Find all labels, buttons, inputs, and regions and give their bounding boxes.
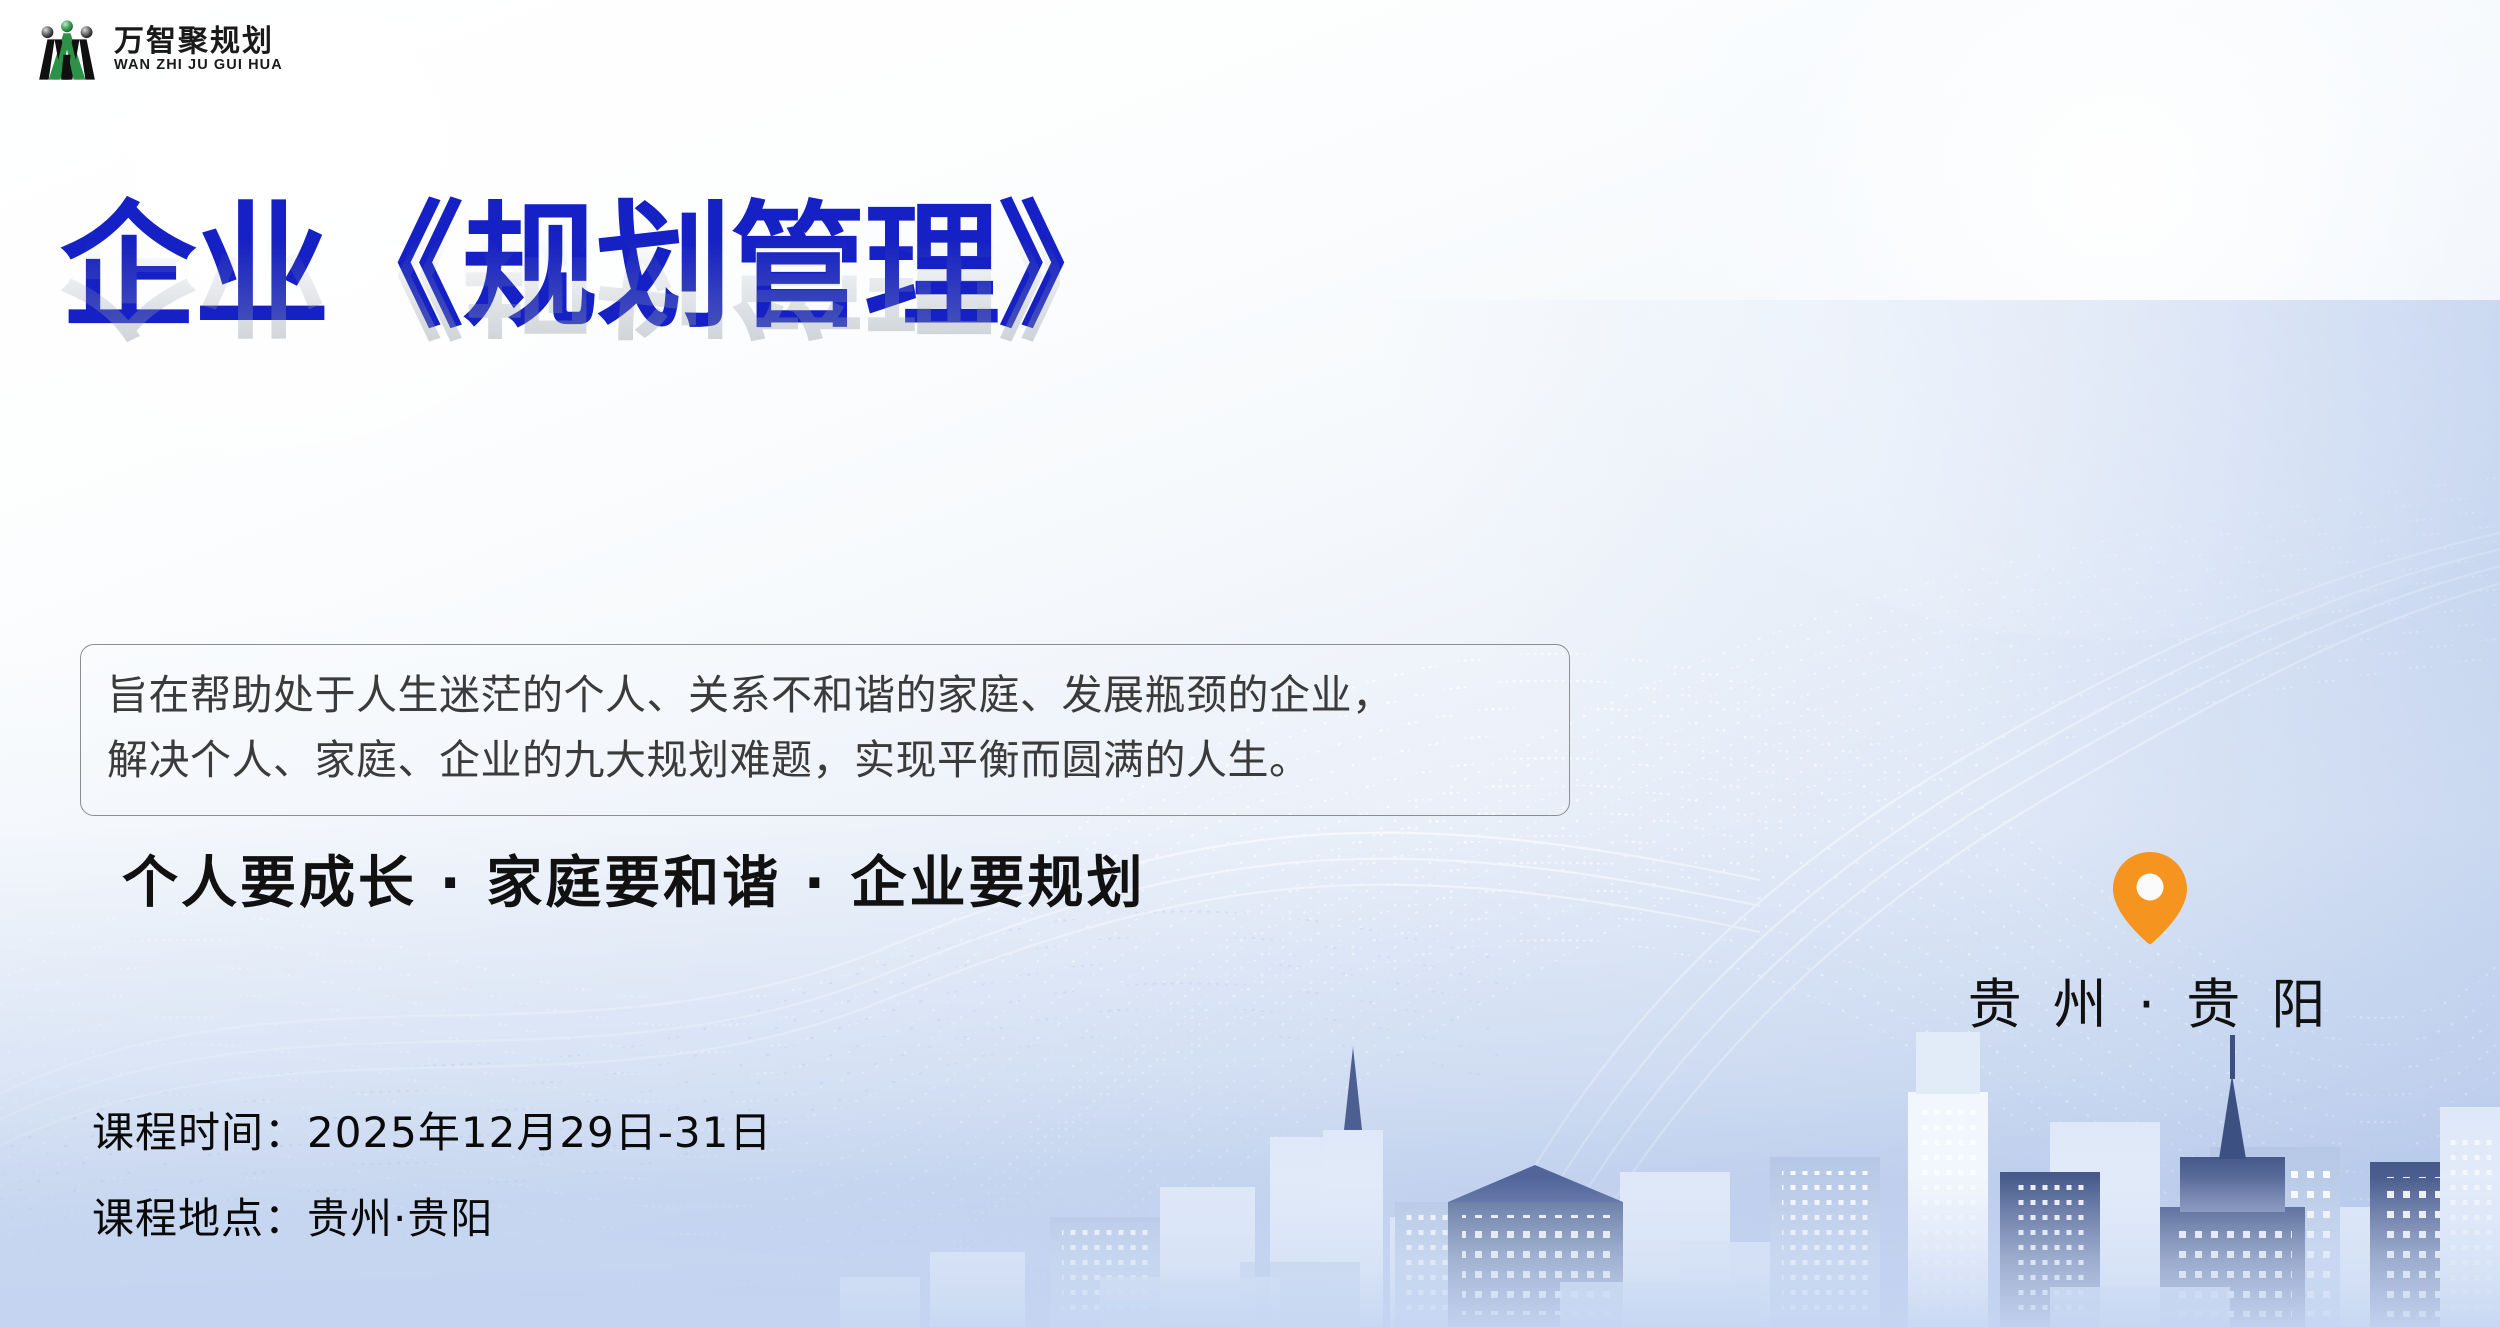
top-right-glow — [1520, 0, 2500, 640]
brand-logo: 万智聚规划 WAN ZHI JU GUI HUA — [34, 18, 283, 82]
hero-title-block: 企业《规划管理》 企业《规划管理》 — [60, 188, 1060, 468]
brand-name-en: WAN ZHI JU GUI HUA — [114, 58, 283, 74]
poster-canvas: 万智聚规划 WAN ZHI JU GUI HUA 企业《规划管理》 企业《规划管… — [0, 0, 2500, 1327]
location-badge: 贵 州 · 贵 阳 — [1935, 850, 2365, 1039]
three-people-logo-icon — [34, 18, 100, 82]
map-pin-icon — [2110, 850, 2190, 946]
course-place: 课程地点：贵州·贵阳 — [92, 1198, 772, 1240]
page-title-reflection: 企业《规划管理》 — [60, 232, 1060, 350]
brand-name-cn: 万智聚规划 — [114, 26, 283, 58]
description-box: 旨在帮助处于人生迷茫的个人、关系不和谐的家庭、发展瓶颈的企业， 解决个人、家庭、… — [80, 644, 1570, 816]
course-info: 课程时间：2025年12月29日-31日 课程地点：贵州·贵阳 — [92, 1112, 772, 1240]
location-city: 贵 州 · 贵 阳 — [1968, 960, 2333, 1039]
course-date: 课程时间：2025年12月29日-31日 — [92, 1112, 772, 1154]
description-line-2: 解决个人、家庭、企业的九大规划难题，实现平衡而圆满的人生。 — [107, 728, 1543, 793]
tagline: 个人要成长 · 家庭要和谐 · 企业要规划 — [122, 838, 1146, 919]
description-line-1: 旨在帮助处于人生迷茫的个人、关系不和谐的家庭、发展瓶颈的企业， — [107, 663, 1543, 728]
